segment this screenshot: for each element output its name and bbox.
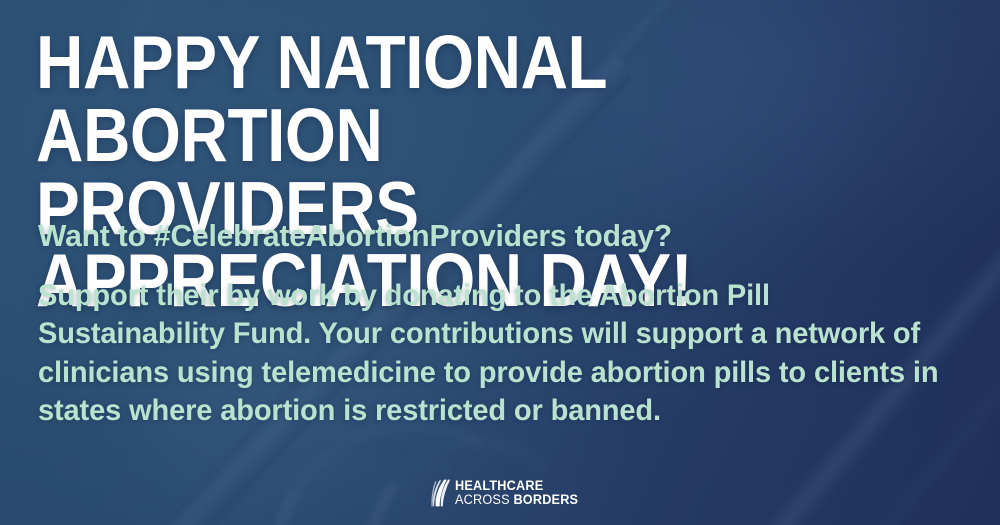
- organization-logo: HEALTHCARE ACROSS BORDERS: [431, 479, 586, 508]
- body-copy: Support their by work by donating to the…: [38, 277, 954, 430]
- logo-line-healthcare: HEALTHCARE: [455, 479, 578, 493]
- graphic-content: HAPPY NATIONAL ABORTION PROVIDERS APPREC…: [0, 0, 1000, 525]
- social-graphic: HAPPY NATIONAL ABORTION PROVIDERS APPREC…: [0, 0, 1000, 525]
- logo-word-borders: BORDERS: [513, 492, 578, 507]
- logo-word-across: ACROSS: [455, 492, 510, 507]
- subheadline: Want to #CelebrateAbortionProviders toda…: [38, 219, 672, 254]
- logo-wordmark: HEALTHCARE ACROSS BORDERS: [455, 479, 586, 508]
- headline: HAPPY NATIONAL ABORTION PROVIDERS APPREC…: [36, 26, 863, 317]
- healthcare-across-borders-stripes-icon: [431, 479, 451, 507]
